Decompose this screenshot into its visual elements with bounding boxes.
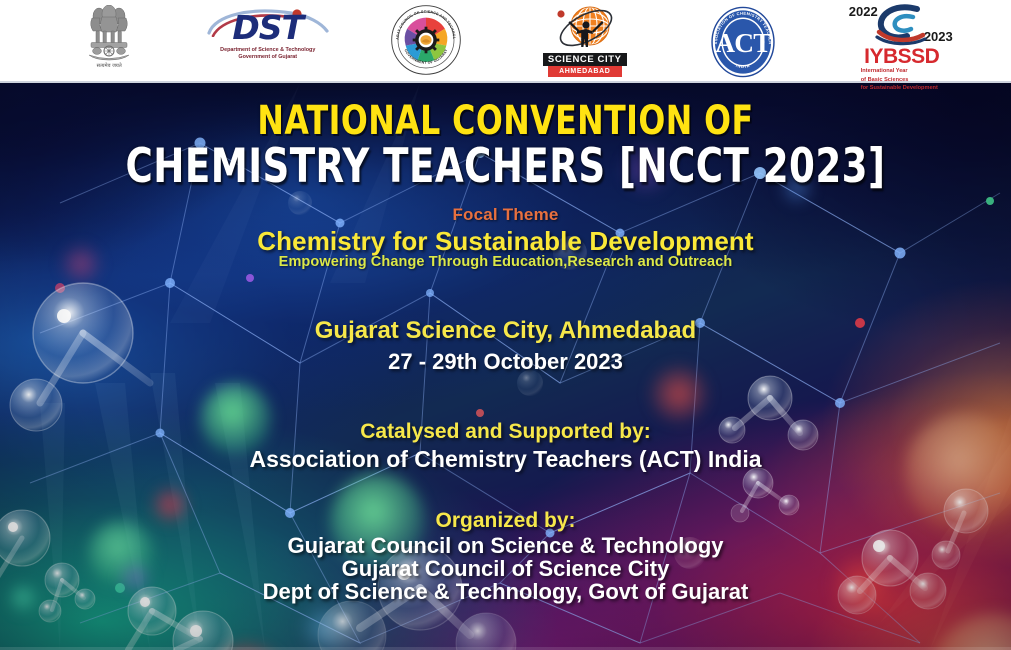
logo-science-city-ahmedabad: SCIENCE CITY AHMEDABAD: [506, 2, 665, 84]
logo-dst-gujarat: DST Department of Science & Technology G…: [189, 2, 348, 84]
science-city-globe-svg: [542, 5, 628, 53]
iybssd-swirl-icon: [873, 4, 935, 46]
gujcost-seal-icon: GUJARAT COUNCIL ON SCIENCE AND TECHNOLOG…: [391, 5, 461, 75]
iybssd-sub-line2: of Basic Sciences: [843, 77, 961, 85]
logo-association-of-chemistry-teachers: ACT ASSOCIATION OF CHEMISTRY TEACHERS IN…: [664, 2, 823, 84]
dst-logo-icon: DST Department of Science & Technology G…: [203, 11, 333, 61]
poster-image: सत्यमेव जयते DST Department of Science &…: [0, 0, 1011, 650]
ashoka-lion-capital-icon: सत्यमेव जयते: [86, 5, 132, 67]
iybssd-wordmark: IYBSSD: [843, 46, 961, 67]
poster-title-line-1: NATIONAL CONVENTION OF: [61, 99, 951, 143]
venue-text: Gujarat Science City, Ahmedabad: [0, 317, 1011, 345]
emblem-caption: सत्यमेव जयते: [86, 63, 132, 69]
iybssd-logo-icon: 2022 2023 IYBSSD International Year of B…: [843, 4, 961, 93]
act-seal-icon: ACT ASSOCIATION OF CHEMISTRY TEACHERS IN…: [707, 6, 779, 78]
science-city-label: SCIENCE CITY: [543, 53, 627, 66]
science-city-sublabel: AHMEDABAD: [548, 66, 622, 77]
svg-text:ACT: ACT: [715, 28, 771, 58]
support-label: Catalysed and Supported by:: [0, 420, 1011, 444]
focal-theme-subtitle: Empowering Change Through Education,Rese…: [0, 254, 1011, 270]
sponsor-logo-bar: सत्यमेव जयते DST Department of Science &…: [0, 0, 1011, 83]
logo-national-emblem-of-india: सत्यमेव जयते: [30, 2, 189, 84]
organizer-3: Dept of Science & Technology, Govt of Gu…: [0, 579, 1011, 605]
focal-theme-text: Chemistry for Sustainable Development: [0, 226, 1011, 257]
dst-sub-line1: Department of Science & Technology: [203, 47, 333, 54]
science-city-globe-icon: SCIENCE CITY AHMEDABAD: [539, 5, 631, 77]
supporting-organization: Association of Chemistry Teachers (ACT) …: [0, 446, 1011, 473]
dst-sub-line2: Government of Gujarat: [203, 54, 333, 61]
focal-theme-label: Focal Theme: [0, 205, 1011, 225]
logo-gujcost-seal: GUJARAT COUNCIL ON SCIENCE AND TECHNOLOG…: [347, 2, 506, 84]
logo-iybssd: 2022 2023 IYBSSD International Year of B…: [823, 2, 982, 84]
poster-text-block: NATIONAL CONVENTION OF CHEMISTRY TEACHER…: [0, 83, 1011, 650]
iybssd-sub-line3: for Sustainable Development: [843, 85, 961, 93]
dst-wordmark: DST: [203, 11, 333, 44]
organized-by-label: Organized by:: [0, 509, 1011, 533]
iybssd-sub-line1: International Year: [843, 68, 961, 76]
poster-artwork: NATIONAL CONVENTION OF CHEMISTRY TEACHER…: [0, 83, 1011, 650]
event-dates: 27 - 29th October 2023: [0, 349, 1011, 375]
ashoka-lion-capital-svg: [86, 5, 132, 61]
poster-title-line-2: CHEMISTRY TEACHERS [NCCT 2023]: [61, 141, 951, 193]
